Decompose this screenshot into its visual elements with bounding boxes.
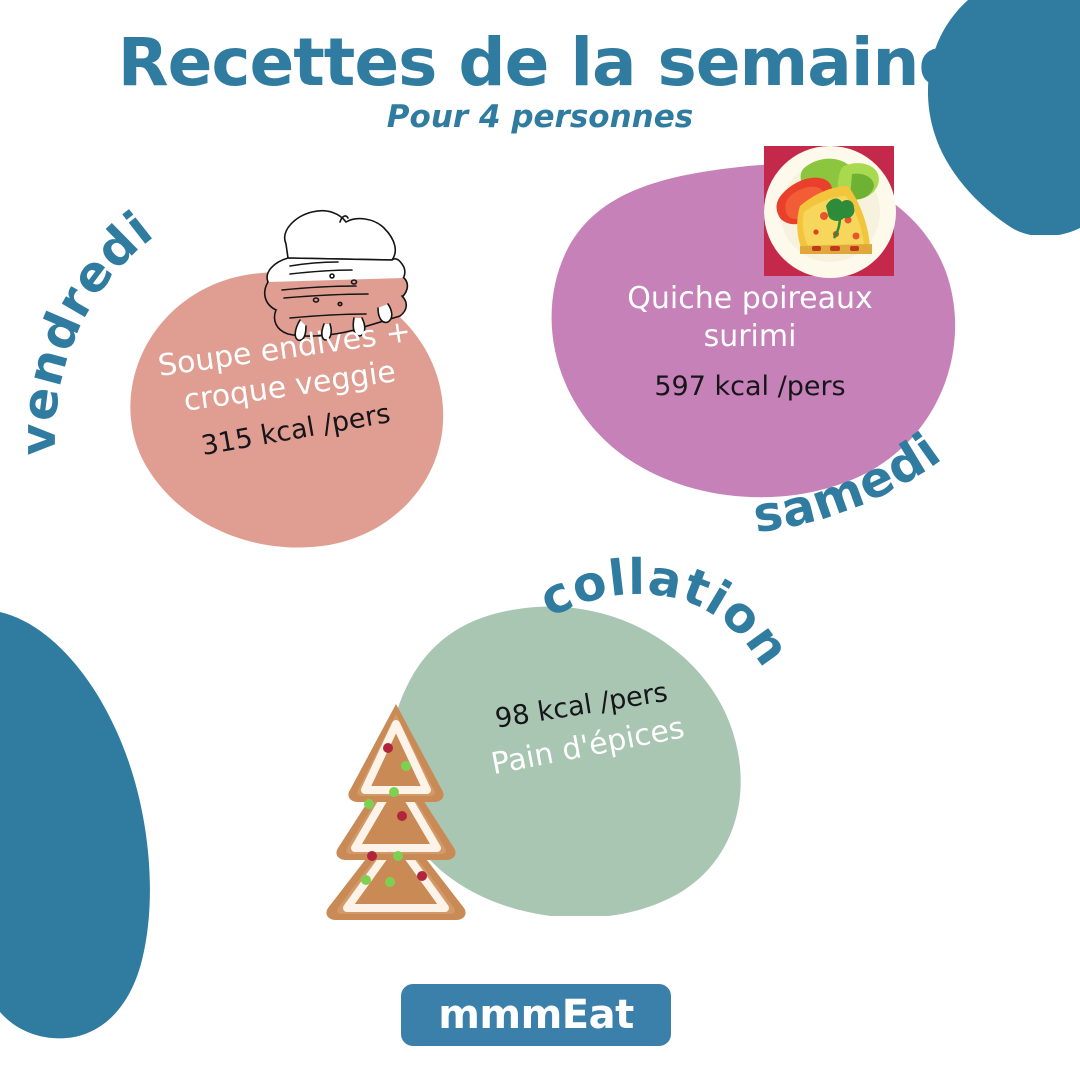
brand-logo[interactable]: mmmEat — [401, 984, 671, 1046]
day-label-vendredi: vendredi — [22, 185, 292, 475]
page-subtitle: Pour 4 personnes — [0, 99, 1080, 135]
vendredi-label-text: vendredi — [10, 200, 164, 456]
infographic-canvas: Recettes de la semaine Pour 4 personnes — [0, 0, 1080, 1080]
brand-logo-text: mmmEat — [438, 992, 633, 1038]
svg-text:collation: collation — [531, 549, 802, 677]
samedi-card-text: Quiche poireaux surimi 597 kcal /pers — [570, 280, 930, 403]
svg-text:samedi: samedi — [749, 421, 951, 544]
bottom-left-decorative-blob — [0, 596, 175, 1042]
samedi-dish-line2: surimi — [570, 318, 930, 356]
quiche-slice-illustration — [760, 146, 900, 282]
collation-label-text: collation — [531, 549, 802, 677]
samedi-label-text: samedi — [749, 421, 951, 544]
page-title: Recettes de la semaine — [0, 24, 1080, 101]
svg-text:vendredi: vendredi — [10, 200, 164, 456]
day-label-samedi: samedi — [748, 404, 1018, 544]
samedi-kcal: 597 kcal /pers — [570, 371, 930, 403]
samedi-dish-line1: Quiche poireaux — [570, 280, 930, 318]
day-label-collation: collation — [540, 570, 840, 810]
